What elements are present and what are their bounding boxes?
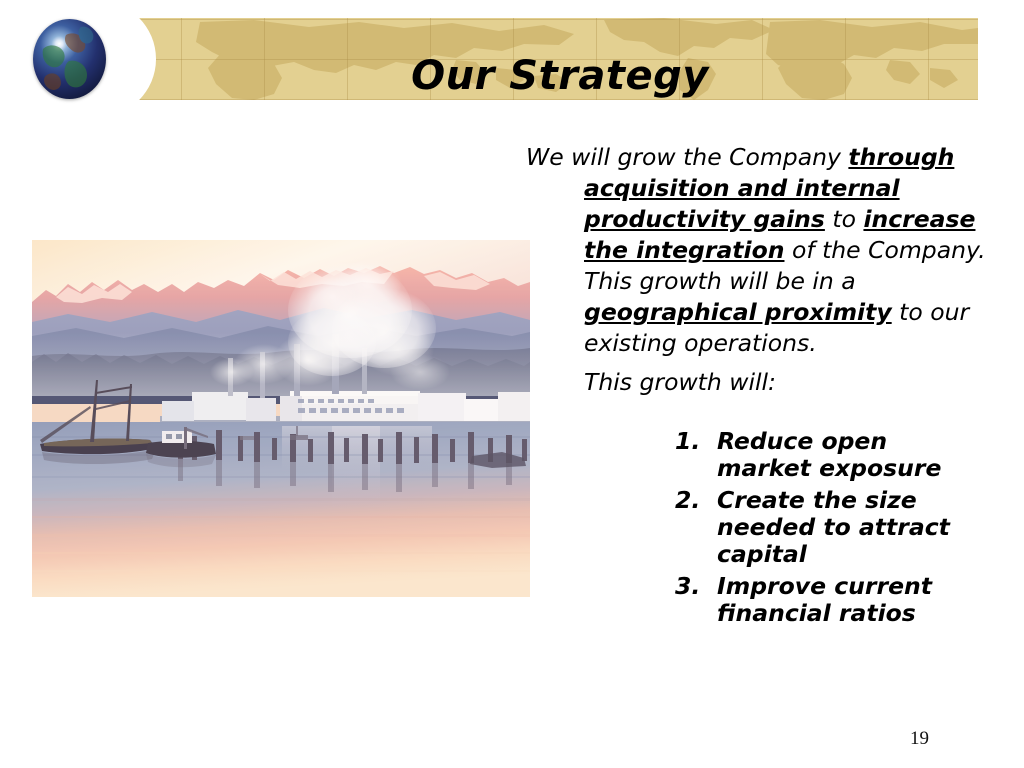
paragraph-run-1: We will grow the Company: [526, 143, 848, 171]
list-item-label: Create the size needed to attract capita…: [717, 487, 985, 568]
strategy-list: 1. Reduce open market exposure 2. Create…: [520, 428, 1000, 632]
page-number: 19: [910, 728, 929, 750]
list-item-marker: 1.: [520, 428, 717, 455]
paragraph-run-6: geographical proximity: [584, 298, 892, 326]
list-item-marker: 2.: [520, 487, 717, 514]
list-item: 1. Reduce open market exposure: [520, 428, 1000, 482]
photo-image: [32, 240, 530, 597]
list-item: 2. Create the size needed to attract cap…: [520, 487, 1000, 568]
banner-notch: [104, 18, 156, 100]
page-title: Our Strategy: [300, 56, 820, 96]
slide: Our Strategy: [0, 0, 1024, 768]
list-item-label: Improve current financial ratios: [717, 573, 985, 627]
list-item-label: Reduce open market exposure: [717, 428, 985, 482]
list-item-marker: 3.: [520, 573, 717, 600]
list-item: 3. Improve current financial ratios: [520, 573, 1000, 627]
paragraph-run-3: to: [825, 205, 864, 233]
globe-continents: [33, 19, 106, 99]
globe-icon: [33, 19, 106, 99]
strategy-paragraph: We will grow the Company through acquisi…: [520, 142, 1000, 359]
list-lead-in: This growth will:: [520, 367, 1000, 398]
body-text-block: We will grow the Company through acquisi…: [520, 142, 1000, 398]
